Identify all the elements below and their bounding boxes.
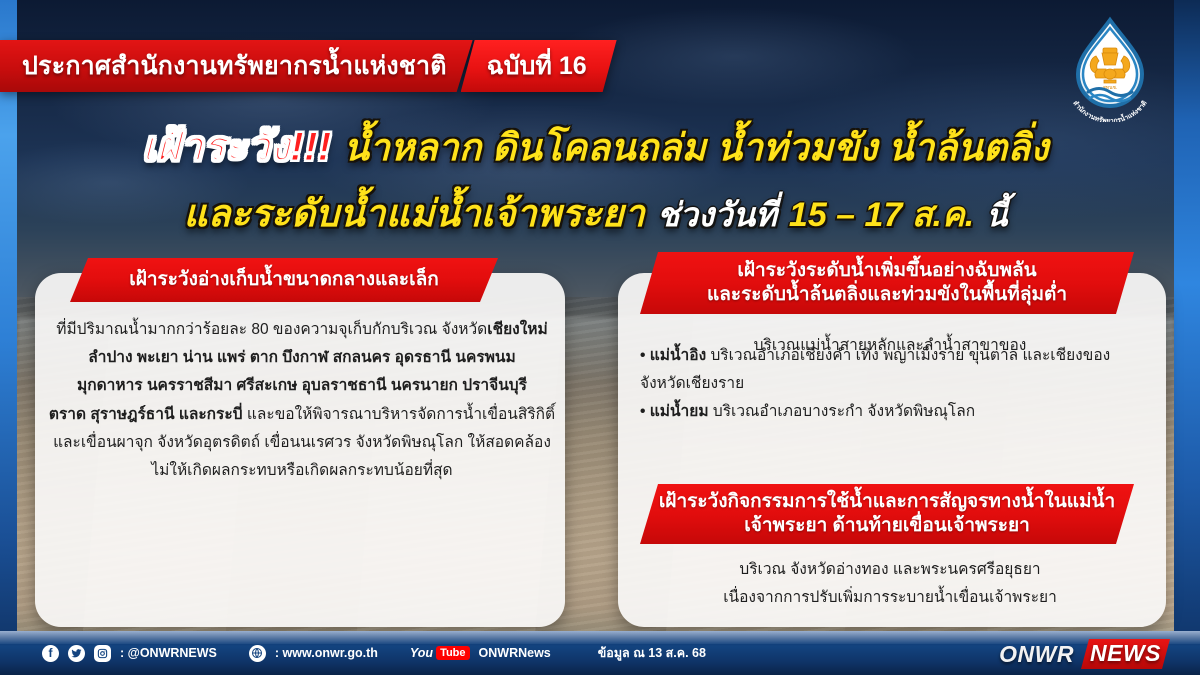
left-card-line-4b: และขอให้พิจารณาบริหารจัดการน้ำเขื่อนสิริ…	[247, 406, 555, 423]
left-card-banner-text: เฝ้าระวังอ่างเก็บน้ำขนาดกลางและเล็ก	[129, 268, 439, 292]
headline-date-prefix: ช่วงวันที่	[657, 188, 777, 241]
headline-date-suffix: นี้	[986, 190, 1007, 240]
infographic-poster: ประกาศสำนักงานทรัพยากรน้ำแห่งชาติ ฉบับที…	[0, 0, 1200, 675]
social-handle-label: : @ONWRNEWS	[120, 646, 217, 660]
left-card-line-2: ลำปาง พะเยา น่าน แพร่ ตาก บึงกาฬ สกลนคร …	[48, 344, 556, 372]
right-card-banner-1: เฝ้าระวังระดับน้ำเพิ่มขึ้นอย่างฉับพลัน แ…	[640, 252, 1134, 314]
river-detail-ing: บริเวณอำเภอเชียงคำ เทิง พญาเม็งราย ขุนตา…	[710, 347, 1110, 364]
footer-social-group: f : @ONWRNEWS : www	[42, 643, 706, 663]
youtube-channel-label: ONWRNews	[479, 646, 551, 660]
right-card-tail-line-2: เนื่องจากการปรับเพิ่มการระบายน้ำเขื่อนเจ…	[640, 584, 1140, 612]
left-card-line-3-text: มุกดาหาร นครราชสีมา ศรีสะเกษ อุบลราชธานี…	[77, 377, 527, 394]
right-card-banner-2-line-2: เจ้าพระยา ด้านท้ายเขื่อนเจ้าพระยา	[744, 514, 1030, 538]
announcement-banner: ประกาศสำนักงานทรัพยากรน้ำแห่งชาติ ฉบับที…	[0, 40, 617, 92]
left-card-line-4: ตราด สุราษฎร์ธานี และกระบี่ และขอให้พิจา…	[48, 401, 556, 429]
announcement-title: ประกาศสำนักงานทรัพยากรน้ำแห่งชาติ	[22, 46, 447, 86]
left-card-line-6: ไม่ให้เกิดผลกระทบหรือเกิดผลกระทบน้อยที่ส…	[48, 457, 556, 485]
list-item: • แม่น้ำยม บริเวณอำเภอบางระกำ จังหวัดพิษ…	[640, 398, 1140, 426]
right-card-banner-1-line-2: และระดับน้ำล้นตลิ่งและท่วมขังในพื้นที่ลุ…	[707, 283, 1067, 307]
left-card-line-4a: ตราด สุราษฎร์ธานี และกระบี่	[49, 406, 243, 423]
facebook-icon[interactable]: f	[42, 645, 59, 662]
twitter-icon[interactable]	[68, 645, 85, 662]
announcement-title-block: ประกาศสำนักงานทรัพยากรน้ำแห่งชาติ	[0, 40, 473, 92]
right-card-banner-2-line-1: เฝ้าระวังกิจกรรมการใช้น้ำและการสัญจรทางน…	[659, 490, 1115, 514]
right-card-banner-2: เฝ้าระวังกิจกรรมการใช้น้ำและการสัญจรทางน…	[640, 484, 1134, 544]
data-date-label: ข้อมูล ณ 13 ส.ค. 68	[598, 643, 706, 663]
instagram-icon[interactable]	[94, 645, 111, 662]
left-card-line-1a: ที่มีปริมาณน้ำมากกว่าร้อยละ 80 ของความจุ…	[56, 321, 487, 338]
globe-icon[interactable]	[249, 645, 266, 662]
left-card-line-2-text: ลำปาง พะเยา น่าน แพร่ ตาก บึงกาฬ สกลนคร …	[88, 349, 515, 366]
left-card-line-1b: เชียงใหม่	[487, 321, 547, 338]
left-card-banner: เฝ้าระวังอ่างเก็บน้ำขนาดกลางและเล็ก	[70, 258, 498, 302]
right-card-tail: บริเวณ จังหวัดอ่างทอง และพระนครศรีอยุธยา…	[640, 556, 1140, 612]
headline-chaophraya-level: และระดับน้ำแม่น้ำเจ้าพระยา	[184, 184, 645, 243]
issue-number-block: ฉบับที่ 16	[461, 40, 617, 92]
logo-onwr-text: ONWR	[999, 641, 1081, 668]
youtube-you-text: You	[410, 646, 433, 660]
river-bullet-list: • แม่น้ำอิง บริเวณอำเภอเชียงคำ เทิง พญาเ…	[640, 342, 1140, 426]
right-card-tail-line-1: บริเวณ จังหวัดอ่างทอง และพระนครศรีอยุธยา	[640, 556, 1140, 584]
bullet-dot-icon: •	[640, 403, 645, 420]
left-card-line-1: ที่มีปริมาณน้ำมากกว่าร้อยละ 80 ของความจุ…	[48, 316, 556, 344]
youtube-icon[interactable]: You Tube	[410, 646, 470, 660]
bullet-dot-icon: •	[640, 347, 645, 364]
right-card-banner-1-line-1: เฝ้าระวังระดับน้ำเพิ่มขึ้นอย่างฉับพลัน	[737, 259, 1036, 283]
left-card-body: ที่มีปริมาณน้ำมากกว่าร้อยละ 80 ของความจุ…	[48, 316, 556, 485]
river-name-yom: แม่น้ำยม	[650, 403, 709, 420]
river-detail-ing-cont: จังหวัดเชียงราย	[640, 370, 1140, 398]
river-name-ing: แม่น้ำอิง	[650, 347, 706, 364]
website-label[interactable]: : www.onwr.go.th	[275, 646, 378, 660]
right-blue-band	[1174, 0, 1200, 675]
headline-date-range: 15 – 17 ส.ค.	[789, 187, 974, 241]
main-headline: เฝ้าระวัง!!! น้ำหลาก ดินโคลนถล่ม น้ำท่วม…	[17, 114, 1174, 243]
list-item: • แม่น้ำอิง บริเวณอำเภอเชียงคำ เทิง พญาเ…	[640, 342, 1140, 370]
onwr-water-drop-emblem: สทนช. สำนักงานทรัพยากรน้ำแห่งชาติ	[1058, 12, 1162, 122]
issue-number-label: ฉบับที่ 16	[487, 46, 587, 86]
left-card-line-3: มุกดาหาร นครราชสีมา ศรีสะเกษ อุบลราชธานี…	[48, 372, 556, 400]
river-detail-yom: บริเวณอำเภอบางระกำ จังหวัดพิษณุโลก	[713, 403, 975, 420]
left-card-line-5: และเขื่อนผาจุก จังหวัดอุตรดิตถ์ เขื่อนนเ…	[48, 429, 556, 457]
right-card-body: • แม่น้ำอิง บริเวณอำเภอเชียงคำ เทิง พญาเ…	[640, 336, 1140, 426]
youtube-tube-text: Tube	[436, 646, 469, 660]
headline-hazards: น้ำหลาก ดินโคลนถล่ม น้ำท่วมขัง น้ำล้นตลิ…	[344, 118, 1049, 177]
onwr-news-logo: ONWR NEWS	[999, 639, 1170, 669]
headline-warning-word: เฝ้าระวัง!!!	[142, 114, 332, 178]
logo-news-text: NEWS	[1081, 639, 1170, 669]
left-blue-band	[0, 0, 17, 675]
